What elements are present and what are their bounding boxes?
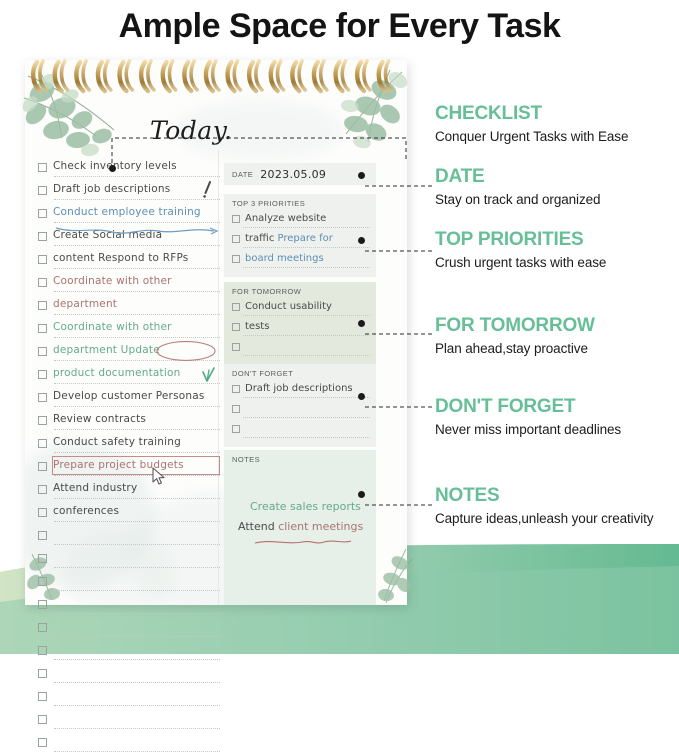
notes-label: NOTES — [224, 450, 376, 467]
annotation-heading: FOR TOMORROW — [435, 315, 679, 337]
checklist-row[interactable] — [38, 526, 218, 549]
callout-connector-line — [365, 239, 433, 241]
checkbox[interactable] — [232, 303, 240, 311]
top-priorities-panel: TOP 3 PRIORITIESAnalyze websitetraffic P… — [224, 194, 376, 277]
checklist-row[interactable]: Draft job descriptions — [38, 181, 218, 204]
checkbox[interactable] — [38, 255, 47, 264]
notes-line-2-b: client meetings — [278, 520, 363, 533]
annotation-subtitle: Conquer Urgent Tasks with Ease — [435, 128, 679, 145]
checkbox[interactable] — [38, 324, 47, 333]
annotation-heading: DON'T FORGET — [435, 396, 679, 418]
blue-underline-squiggle-icon — [54, 222, 220, 240]
rule-line — [54, 245, 220, 246]
checklist-row[interactable] — [38, 572, 218, 595]
panel-row[interactable]: traffic Prepare for — [224, 231, 376, 251]
rule-line — [54, 728, 220, 729]
checkbox[interactable] — [38, 531, 47, 540]
rule-line — [54, 567, 220, 568]
panel-item-label: Draft job descriptions — [245, 382, 353, 395]
checklist-row[interactable]: Develop customer Personas — [38, 388, 218, 411]
rule-line — [54, 429, 220, 430]
checkbox[interactable] — [38, 278, 47, 287]
callout-dot — [358, 172, 365, 179]
checkbox[interactable] — [38, 738, 47, 747]
rule-line — [54, 682, 220, 683]
callout-connector-line — [365, 322, 433, 324]
annotation-heading: CHECKLIST — [435, 103, 679, 125]
panel-item-label: board meetings — [245, 252, 324, 265]
annotation-heading: DATE — [435, 166, 679, 188]
checkbox[interactable] — [38, 347, 47, 356]
rule-line — [243, 267, 370, 268]
notes-panel: NOTES Create sales reports Attend client… — [224, 450, 376, 605]
rule-line — [54, 406, 220, 407]
checkbox[interactable] — [232, 405, 240, 413]
checkbox[interactable] — [38, 209, 47, 218]
spiral-binding-icon — [25, 58, 407, 98]
checklist-row[interactable]: Conduct employee training — [38, 204, 218, 227]
checklist-item-label: product documentation — [53, 366, 180, 380]
checklist-row[interactable]: Attend industry — [38, 480, 218, 503]
annotation-subtitle: Capture ideas,unleash your creativity — [435, 510, 679, 527]
circled-word-update-icon — [155, 340, 217, 367]
mouse-cursor-icon — [152, 467, 168, 492]
checklist-item-label: department Update — [53, 343, 160, 357]
checklist-item-label: Coordinate with other — [53, 274, 172, 288]
dont-forget-panel: DON'T FORGETDraft job descriptions — [224, 364, 376, 447]
panel-item-label: tests — [245, 320, 269, 333]
column-divider — [218, 150, 219, 605]
annotation-subtitle: Never miss important deadlines — [435, 421, 679, 438]
callout-connector-line — [365, 493, 433, 495]
rule-line — [243, 247, 370, 248]
rule-line — [54, 452, 220, 453]
checklist-row[interactable]: Conduct safety training — [38, 434, 218, 457]
checkbox[interactable] — [38, 577, 47, 586]
checklist-row[interactable]: department Update — [38, 342, 218, 365]
checklist-item-label: Conduct safety training — [53, 435, 181, 449]
panel-item-label: Analyze website — [245, 212, 326, 225]
checkmark-icon — [201, 366, 217, 391]
callout-connector-line — [365, 395, 433, 397]
annotation-heading: NOTES — [435, 485, 679, 507]
callout-dot — [358, 393, 365, 400]
top-priorities-label: TOP 3 PRIORITIES — [224, 194, 376, 211]
checklist-row[interactable]: Coordinate with other — [38, 273, 218, 296]
panel-row[interactable]: Draft job descriptions — [224, 381, 376, 401]
panel-row[interactable] — [224, 421, 376, 441]
callout-connector-line — [108, 130, 418, 178]
checkbox[interactable] — [38, 186, 47, 195]
checklist-row[interactable] — [38, 641, 218, 664]
checkbox[interactable] — [38, 232, 47, 241]
checkbox[interactable] — [232, 235, 240, 243]
checklist-item-label: Conduct employee training — [53, 205, 201, 219]
checklist-row[interactable]: conferences — [38, 503, 218, 526]
dont-forget-label: DON'T FORGET — [224, 364, 376, 381]
annotation-notes: NOTESCapture ideas,unleash your creativi… — [435, 485, 679, 527]
panel-row[interactable] — [224, 401, 376, 421]
panel-row[interactable]: tests — [224, 319, 376, 339]
annotation-subtitle: Plan ahead,stay proactive — [435, 340, 679, 357]
checklist-item-label: conferences — [53, 504, 119, 518]
rule-line — [54, 659, 220, 660]
checkbox[interactable] — [38, 301, 47, 310]
callout-dot — [358, 320, 365, 327]
callout-dot — [109, 165, 116, 172]
callout-dot — [358, 237, 365, 244]
checklist-row[interactable]: department — [38, 296, 218, 319]
rule-line — [54, 636, 220, 637]
checkbox[interactable] — [232, 255, 240, 263]
checklist-row[interactable] — [38, 618, 218, 641]
checkbox[interactable] — [232, 215, 240, 223]
rule-line — [243, 315, 370, 316]
checklist-row[interactable] — [38, 687, 218, 710]
checklist-item-label: content Respond to RFPs — [53, 251, 188, 265]
callout-connector-line — [365, 174, 433, 176]
rule-line — [243, 417, 370, 418]
rule-line — [54, 544, 220, 545]
panel-row[interactable]: Conduct usability — [224, 299, 376, 319]
checklist-item-label: Review contracts — [53, 412, 146, 426]
checkbox[interactable] — [232, 343, 240, 351]
checkbox[interactable] — [38, 554, 47, 563]
checklist-item-label: Coordinate with other — [53, 320, 172, 334]
checkbox[interactable] — [38, 715, 47, 724]
rule-line — [243, 227, 370, 228]
for-tomorrow-panel: FOR TOMORROWConduct usabilitytests — [224, 282, 376, 365]
notes-line-2-a: Attend — [238, 520, 278, 533]
checkbox[interactable] — [38, 439, 47, 448]
rule-line — [54, 475, 220, 476]
rule-line — [54, 590, 220, 591]
exclamation-mark-icon — [202, 181, 214, 206]
checkbox[interactable] — [38, 600, 47, 609]
panel-item-label: traffic Prepare for — [245, 232, 333, 245]
rule-line — [54, 751, 220, 752]
checklist-row[interactable] — [38, 549, 218, 572]
checklist-row[interactable]: content Respond to RFPs — [38, 250, 218, 273]
notes-line-1: Create sales reports — [238, 497, 376, 517]
rule-line — [54, 337, 220, 338]
checkbox[interactable] — [38, 485, 47, 494]
rule-line — [54, 521, 220, 522]
checklist-item-label: department — [53, 297, 117, 311]
checkbox[interactable] — [38, 669, 47, 678]
checklist-row[interactable] — [38, 664, 218, 687]
checkbox[interactable] — [38, 623, 47, 632]
rule-line — [54, 705, 220, 706]
checkbox[interactable] — [38, 370, 47, 379]
rule-line — [243, 437, 370, 438]
checklist-row[interactable] — [38, 733, 218, 756]
notes-underline-squiggle-icon — [254, 534, 352, 554]
rule-line — [243, 397, 370, 398]
annotation-date: DATEStay on track and organized — [435, 166, 679, 208]
highlight-box-icon — [52, 456, 220, 475]
checklist-row[interactable]: Review contracts — [38, 411, 218, 434]
checklist-row[interactable]: Coordinate with other — [38, 319, 218, 342]
checklist-row[interactable] — [38, 710, 218, 733]
page-title: Ample Space for Every Task — [0, 0, 679, 52]
checkbox[interactable] — [232, 425, 240, 433]
rule-line — [54, 199, 220, 200]
rule-line — [54, 613, 220, 614]
checklist-item-label: Attend industry — [53, 481, 137, 495]
checkbox[interactable] — [38, 416, 47, 425]
checklist-item-label: Develop customer Personas — [53, 389, 205, 403]
rule-line — [54, 383, 220, 384]
rule-line — [54, 268, 220, 269]
checklist-row[interactable] — [38, 595, 218, 618]
checkbox[interactable] — [38, 393, 47, 402]
checklist-item-label: Draft job descriptions — [53, 182, 170, 196]
annotation-checklist: CHECKLISTConquer Urgent Tasks with Ease — [435, 103, 679, 145]
annotation-don-t-forget: DON'T FORGETNever miss important deadlin… — [435, 396, 679, 438]
annotation-subtitle: Stay on track and organized — [435, 191, 679, 208]
checkbox[interactable] — [38, 163, 47, 172]
checklist-row[interactable]: product documentation — [38, 365, 218, 388]
checkbox[interactable] — [38, 508, 47, 517]
annotation-top-priorities: TOP PRIORITIESCrush urgent tasks with ea… — [435, 229, 679, 271]
panel-item-label: Conduct usability — [245, 300, 332, 313]
rule-line — [54, 291, 220, 292]
annotation-for-tomorrow: FOR TOMORROWPlan ahead,stay proactive — [435, 315, 679, 357]
rule-line — [243, 355, 370, 356]
checkbox[interactable] — [232, 323, 240, 331]
checkbox[interactable] — [38, 692, 47, 701]
rule-line — [243, 335, 370, 336]
checkbox[interactable] — [38, 462, 47, 471]
checklist-column: Check inventory levelsDraft job descript… — [38, 158, 218, 756]
for-tomorrow-label: FOR TOMORROW — [224, 282, 376, 299]
panel-row[interactable]: Analyze website — [224, 211, 376, 231]
rule-line — [54, 498, 220, 499]
annotation-heading: TOP PRIORITIES — [435, 229, 679, 251]
annotation-subtitle: Crush urgent tasks with ease — [435, 254, 679, 271]
callout-dot — [358, 491, 365, 498]
rule-line — [54, 314, 220, 315]
checkbox[interactable] — [232, 385, 240, 393]
panel-row[interactable] — [224, 339, 376, 359]
panel-row[interactable]: board meetings — [224, 251, 376, 271]
checklist-row[interactable]: Prepare project budgets — [38, 457, 218, 480]
notes-body[interactable]: Create sales reports Attend client meeti… — [224, 467, 376, 537]
